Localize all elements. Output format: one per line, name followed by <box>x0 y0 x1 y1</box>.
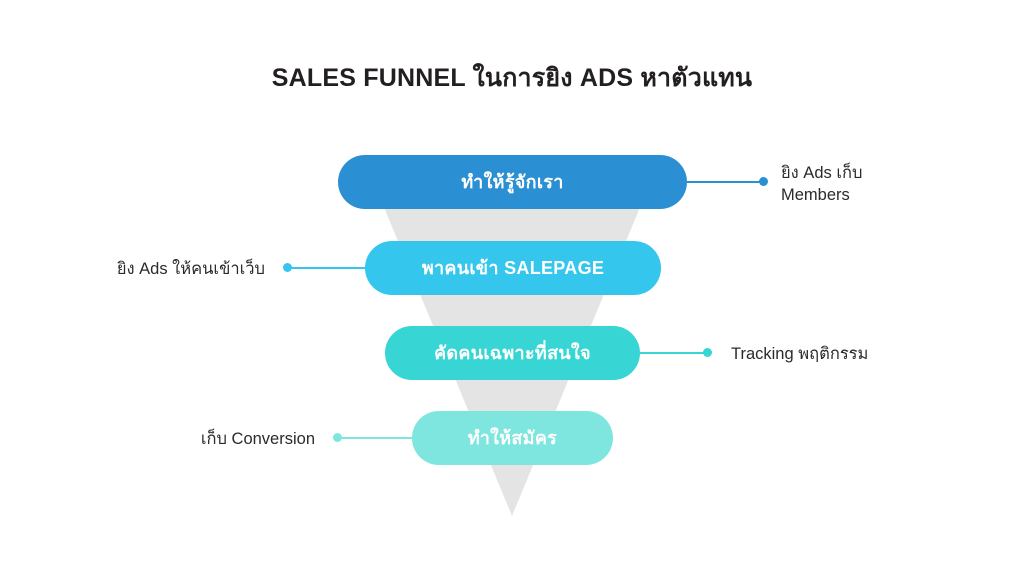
funnel-stage-1-label: ทำให้รู้จักเรา <box>461 173 563 191</box>
callout-stage-1: ยิง Ads เก็บ Members <box>781 162 862 207</box>
callout-stage-3: Tracking พฤติกรรม <box>731 343 868 365</box>
funnel-stage-4[interactable]: ทำให้สมัคร <box>412 411 613 465</box>
connector-line-stage-3 <box>640 352 707 354</box>
funnel-stage-2-label: พาคนเข้า SALEPAGE <box>422 259 604 277</box>
connector-dot-stage-1 <box>759 177 768 186</box>
funnel-stage-3[interactable]: คัดคนเฉพาะที่สนใจ <box>385 326 640 380</box>
funnel-stage-1[interactable]: ทำให้รู้จักเรา <box>338 155 687 209</box>
callout-stage-2: ยิง Ads ให้คนเข้าเว็บ <box>117 258 265 280</box>
connector-line-stage-1 <box>687 181 763 183</box>
funnel-stage-2[interactable]: พาคนเข้า SALEPAGE <box>365 241 661 295</box>
funnel-stage-3-label: คัดคนเฉพาะที่สนใจ <box>434 344 591 362</box>
callout-stage-3-line-1: Tracking พฤติกรรม <box>731 343 868 365</box>
connector-line-stage-2 <box>291 267 365 269</box>
callout-stage-2-line-1: ยิง Ads ให้คนเข้าเว็บ <box>117 258 265 280</box>
connector-dot-stage-4 <box>333 433 342 442</box>
connector-line-stage-4 <box>341 437 412 439</box>
connector-dot-stage-3 <box>703 348 712 357</box>
callout-stage-1-line-1: ยิง Ads เก็บ <box>781 162 862 184</box>
connector-dot-stage-2 <box>283 263 292 272</box>
funnel-stage-4-label: ทำให้สมัคร <box>468 429 557 447</box>
callout-stage-4: เก็บ Conversion <box>201 428 315 450</box>
callout-stage-4-line-1: เก็บ Conversion <box>201 428 315 450</box>
callout-stage-1-line-2: Members <box>781 184 862 206</box>
funnel-diagram-canvas: SALES FUNNEL ในการยิง ADS หาตัวแทน ทำให้… <box>0 0 1024 576</box>
